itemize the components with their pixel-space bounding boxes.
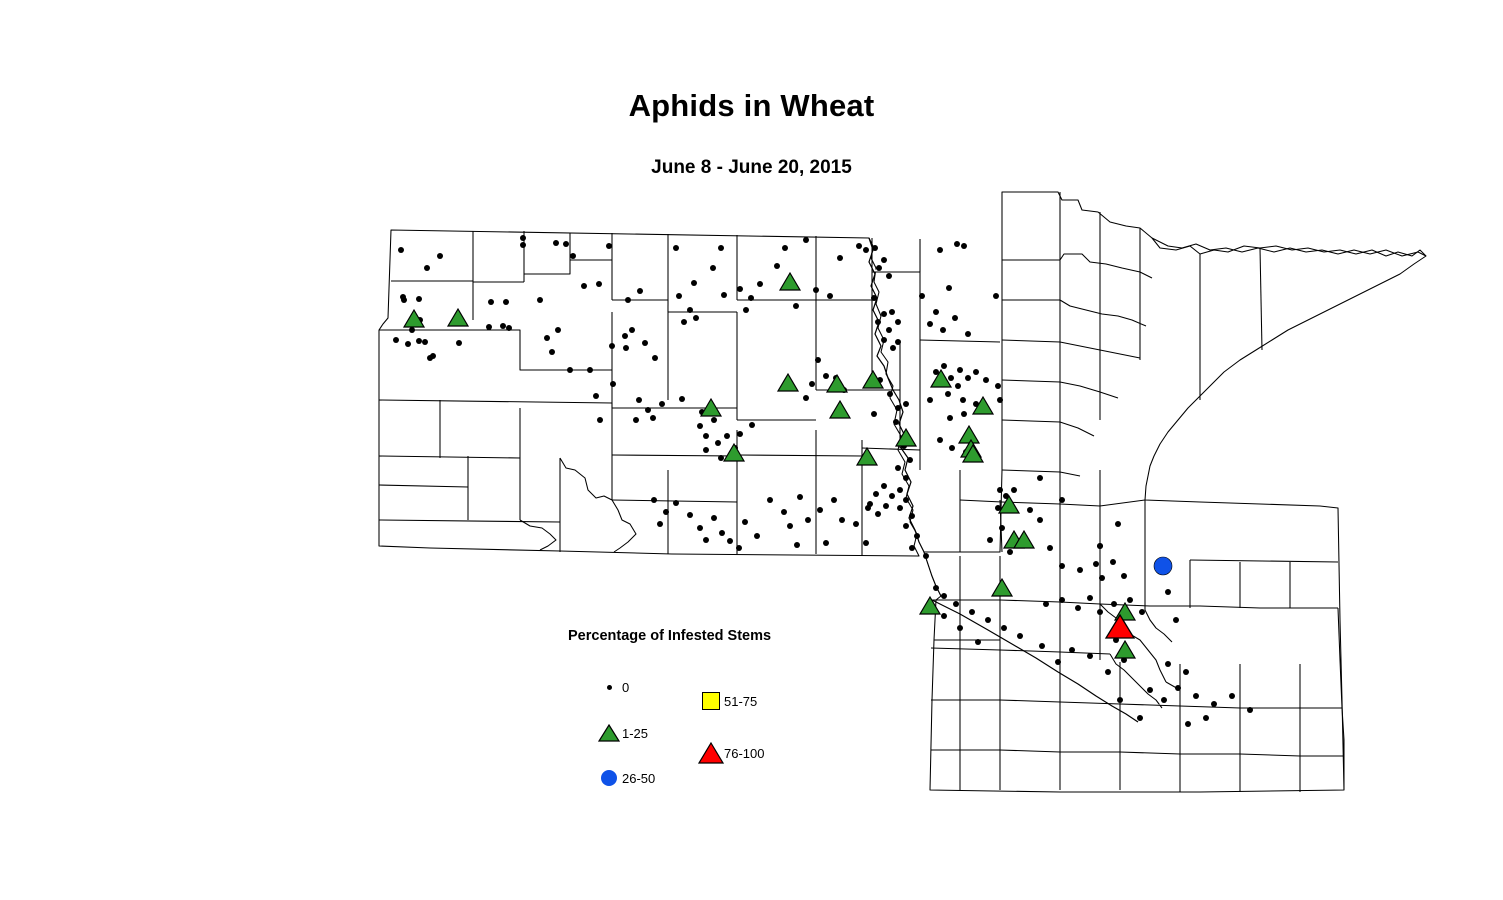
legend-item-0[interactable]: 0 [596,680,629,695]
blue-circle-icon [596,770,622,786]
legend-label-26-50: 26-50 [622,771,655,786]
green-triangle-icon [596,724,622,742]
yellow-square-icon [698,692,724,710]
red-triangle-icon [698,742,724,764]
legend-item-51-75[interactable]: 51-75 [698,692,757,710]
legend: Percentage of Infested Stems 0 1-25 26-5… [568,628,818,788]
legend-label-76-100: 76-100 [724,746,764,761]
legend-item-26-50[interactable]: 26-50 [596,770,655,786]
legend-title: Percentage of Infested Stems [568,628,818,644]
black-dot-icon [596,685,622,690]
legend-label-51-75: 51-75 [724,694,757,709]
legend-label-1-25: 1-25 [622,726,648,741]
legend-label-0: 0 [622,680,629,695]
county-boundaries [379,192,1426,792]
legend-item-76-100[interactable]: 76-100 [698,742,764,764]
sample-point-26-50 [1154,557,1172,575]
legend-item-1-25[interactable]: 1-25 [596,724,648,742]
